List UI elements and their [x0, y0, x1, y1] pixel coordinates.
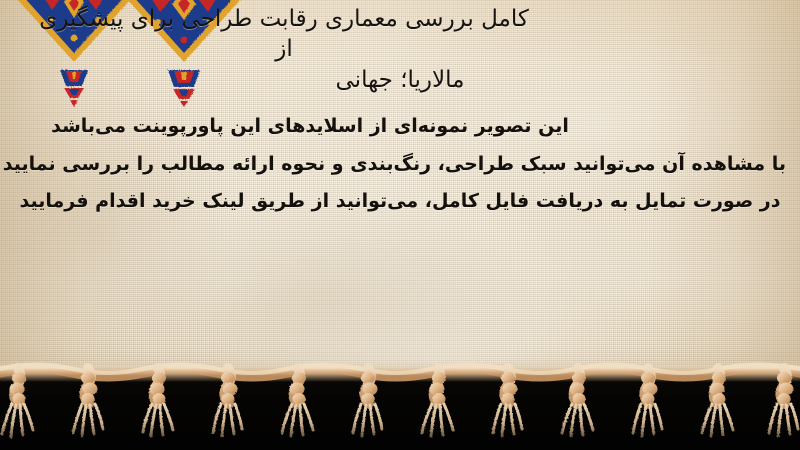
- body-line-3: در صورت تمایل به دریافت فایل کامل، می‌تو…: [14, 183, 786, 221]
- body-line-1: این تصویر نمونه‌ای از اسلایدهای این پاور…: [14, 108, 786, 146]
- title-line-2: مالاریا؛ جهانی: [28, 65, 772, 95]
- slide-body: این تصویر نمونه‌ای از اسلایدهای این پاور…: [0, 108, 800, 221]
- body-line-2: با مشاهده آن می‌توانید سبک طراحی، رنگ‌بن…: [14, 146, 786, 184]
- black-background-band: [0, 372, 800, 450]
- slide-title: کامل بررسی معماری رقابت طراحی برای پیشگی…: [0, 4, 800, 95]
- title-line-1: کامل بررسی معماری رقابت طراحی برای پیشگی…: [28, 4, 772, 65]
- slide-canvas: کامل بررسی معماری رقابت طراحی برای پیشگی…: [0, 0, 800, 450]
